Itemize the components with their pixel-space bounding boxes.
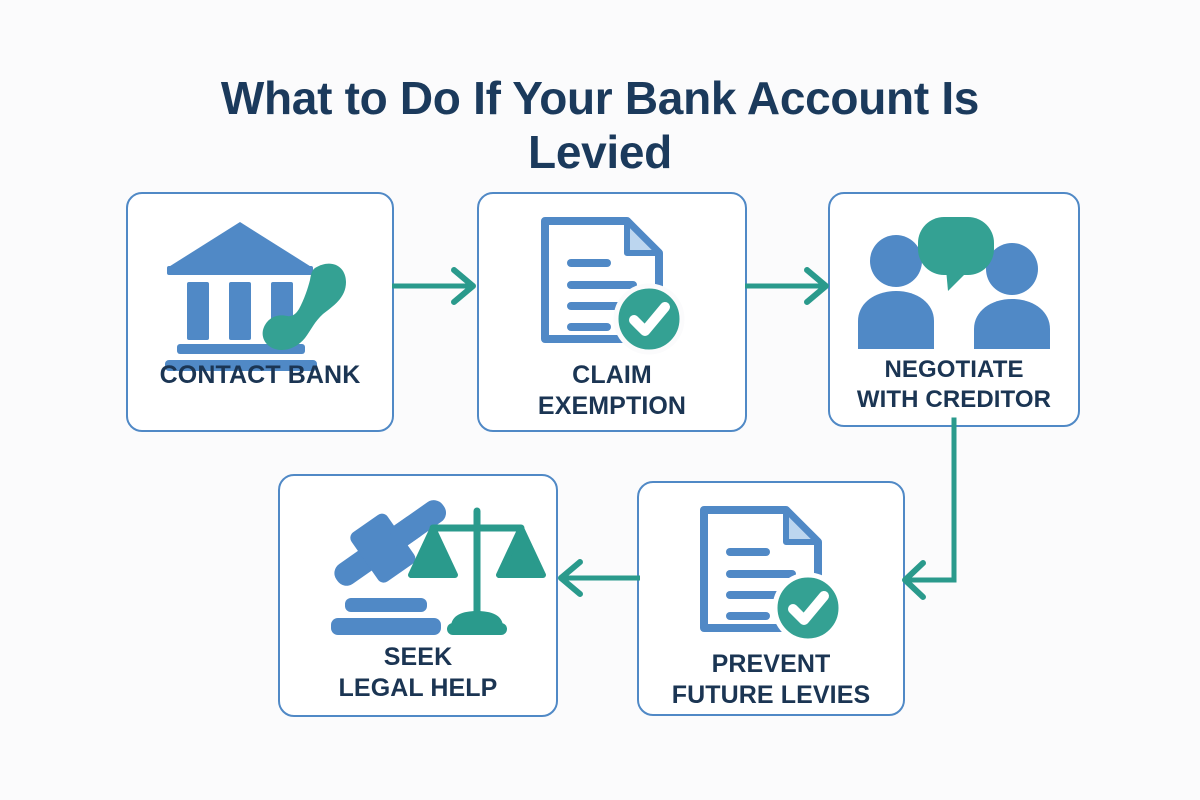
step-label-seek-legal-help: SEEK LEGAL HELP [333,642,504,704]
two-people-speech-bubble-icon [854,210,1054,355]
step-card-contact-bank[interactable]: CONTACT BANK [126,192,394,432]
step-label-claim-exemption: CLAIM EXEMPTION [532,360,692,422]
step-label-negotiate-with-creditor: NEGOTIATE WITH CREDITOR [851,355,1057,415]
gavel-scales-icon [311,492,526,642]
step-card-negotiate-with-creditor[interactable]: NEGOTIATE WITH CREDITOR [828,192,1080,427]
page-title: What to Do If Your Bank Account Is Levie… [150,71,1050,180]
infographic-canvas: What to Do If Your Bank Account Is Levie… [0,0,1200,800]
step-card-seek-legal-help[interactable]: SEEK LEGAL HELP [278,474,558,717]
step-card-prevent-future-levies[interactable]: PREVENT FUTURE LEVIES [637,481,905,716]
arrow-contact-bank-to-claim-exemption [392,262,484,310]
document-check-icon [696,499,846,649]
step-label-contact-bank: CONTACT BANK [154,360,367,391]
arrow-claim-exemption-to-negotiate-with-creditor [745,262,837,310]
step-card-claim-exemption[interactable]: CLAIM EXEMPTION [477,192,747,432]
arrow-prevent-future-levies-to-seek-legal-help [552,554,644,602]
step-label-prevent-future-levies: PREVENT FUTURE LEVIES [666,649,877,711]
bank-with-phone-icon [165,210,355,360]
document-check-icon [537,210,687,360]
